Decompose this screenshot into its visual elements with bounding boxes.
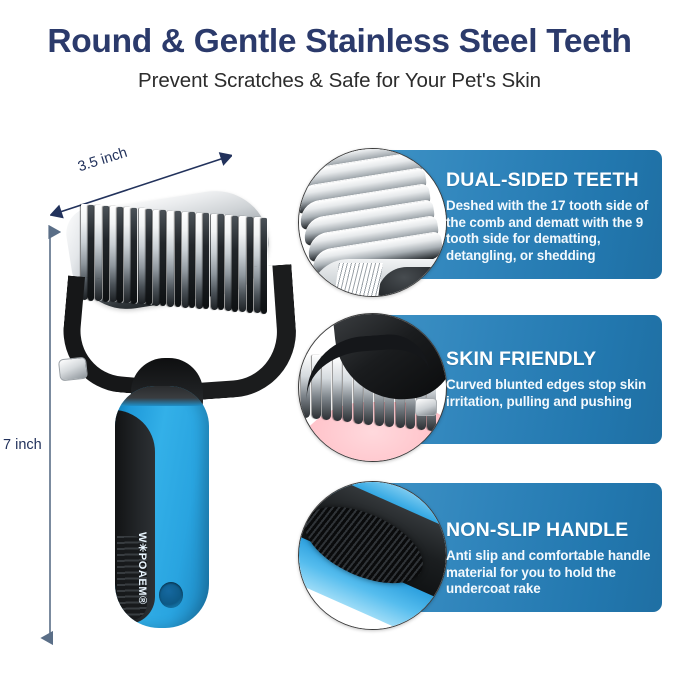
feature-image-comb-teeth-closeup [298,148,447,297]
feature-body: Deshed with the 17 tooth side of the com… [446,198,656,264]
feature-heading: SKIN FRIENDLY [446,348,596,371]
retaining-pin [58,357,88,382]
feature-body: Curved blunted edges stop skin irritatio… [446,377,656,410]
brush-yoke [63,266,277,386]
feature-text-block: DUAL-SIDED TEETH Deshed with the 17 toot… [446,148,661,277]
brand-logo-text: W✳POAEM® [136,532,149,622]
feature-image-comb-on-skin-closeup [298,313,447,462]
feature-text-block: NON-SLIP HANDLE Anti slip and comfortabl… [446,481,661,610]
infographic-canvas: Round & Gentle Stainless Steel Teeth Pre… [0,0,679,679]
feature-heading: NON-SLIP HANDLE [446,519,628,542]
feature-row-dual-sided-teeth: DUAL-SIDED TEETH Deshed with the 17 toot… [296,148,679,298]
feature-row-non-slip-handle: NON-SLIP HANDLE Anti slip and comfortabl… [296,481,679,631]
feature-heading: DUAL-SIDED TEETH [446,169,639,192]
page-title: Round & Gentle Stainless Steel Teeth [0,22,679,62]
header: Round & Gentle Stainless Steel Teeth Pre… [0,22,679,94]
comb-teeth-illustration [298,148,447,297]
feature-body: Anti slip and comfortable handle materia… [446,548,656,598]
comb-pin-illustration [415,398,437,416]
product-photo: W✳POAEM® [55,190,295,630]
handle-hang-hole [159,582,183,608]
handle-collar [115,386,209,406]
feature-text-block: SKIN FRIENDLY Curved blunted edges stop … [446,313,661,442]
height-dimension-label: 7 inch [3,437,42,453]
handle-grip-illustration [298,481,447,630]
feature-image-handle-grip-closeup [298,481,447,630]
comb-arm-illustration [303,332,432,411]
feature-row-skin-friendly: SKIN FRIENDLY Curved blunted edges stop … [296,313,679,463]
page-subtitle: Prevent Scratches & Safe for Your Pet's … [0,68,679,94]
product-handle: W✳POAEM® [115,386,209,628]
